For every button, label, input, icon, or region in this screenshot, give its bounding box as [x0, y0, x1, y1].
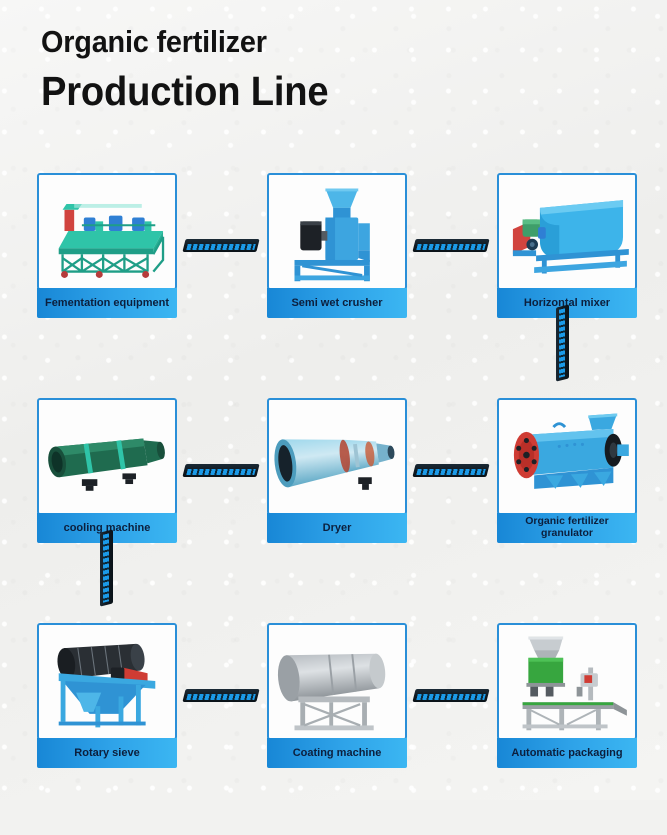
conveyor-connector-horizontal [184, 239, 258, 252]
flow-card-automatic-packaging[interactable]: Automatic packaging [497, 623, 637, 768]
dryer-image [269, 400, 405, 513]
flow-card-organic-fertilizer-granulator[interactable]: Organic fertilizer granulator [497, 398, 637, 543]
conveyor-connector-vertical-down-left [100, 531, 113, 605]
card-image-frame [497, 173, 637, 290]
card-image-frame [267, 398, 407, 515]
card-image-frame [267, 623, 407, 740]
flow-card-semi-wet-crusher[interactable]: Semi wet crusher [267, 173, 407, 318]
card-label: Semi wet crusher [267, 288, 407, 318]
card-label: Coating machine [267, 738, 407, 768]
rotary-sieve-image [39, 625, 175, 738]
card-label-line2: granulator [541, 527, 593, 539]
card-image-frame [497, 623, 637, 740]
card-label: Automatic packaging [497, 738, 637, 768]
conveyor-connector-horizontal [414, 464, 488, 477]
flow-card-cooling-machine[interactable]: cooling machine [37, 398, 177, 543]
flow-row-1: Fementation equipment [0, 160, 667, 385]
card-label: Dryer [267, 513, 407, 543]
card-image-frame [37, 623, 177, 740]
conveyor-connector-vertical-down-right [556, 306, 569, 380]
conveyor-connector-horizontal [414, 689, 488, 702]
coating-machine-image [269, 625, 405, 738]
conveyor-connector-horizontal [414, 239, 488, 252]
cooling-machine-image [39, 400, 175, 513]
card-label: Rotary sieve [37, 738, 177, 768]
fermentation-equipment-image [39, 175, 175, 288]
conveyor-connector-horizontal [184, 464, 258, 477]
organic-fertilizer-granulator-image [499, 400, 635, 513]
horizontal-mixer-image [499, 175, 635, 288]
title-line-1: Organic fertilizer [41, 26, 328, 58]
flow-card-fermentation-equipment[interactable]: Fementation equipment [37, 173, 177, 318]
card-image-frame [497, 398, 637, 515]
flow-card-horizontal-mixer[interactable]: Horizontal mixer [497, 173, 637, 318]
title-line-2: Production Line [41, 70, 328, 113]
flow-row-2: cooling machine [0, 385, 667, 610]
conveyor-connector-horizontal [184, 689, 258, 702]
flow-card-rotary-sieve[interactable]: Rotary sieve [37, 623, 177, 768]
automatic-packaging-image [499, 625, 635, 738]
card-label-line1: Organic fertilizer [525, 515, 608, 527]
card-image-frame [37, 173, 177, 290]
card-image-frame [267, 173, 407, 290]
card-image-frame [37, 398, 177, 515]
flow-card-dryer[interactable]: Dryer [267, 398, 407, 543]
page-title: Organic fertilizer Production Line [41, 26, 350, 113]
production-line-flow: Fementation equipment [0, 160, 667, 835]
card-label: Organic fertilizer granulator [497, 513, 637, 543]
card-label: Fementation equipment [37, 288, 177, 318]
flow-row-3: Rotary sieve [0, 610, 667, 835]
semi-wet-crusher-image [269, 175, 405, 288]
flow-card-coating-machine[interactable]: Coating machine [267, 623, 407, 768]
